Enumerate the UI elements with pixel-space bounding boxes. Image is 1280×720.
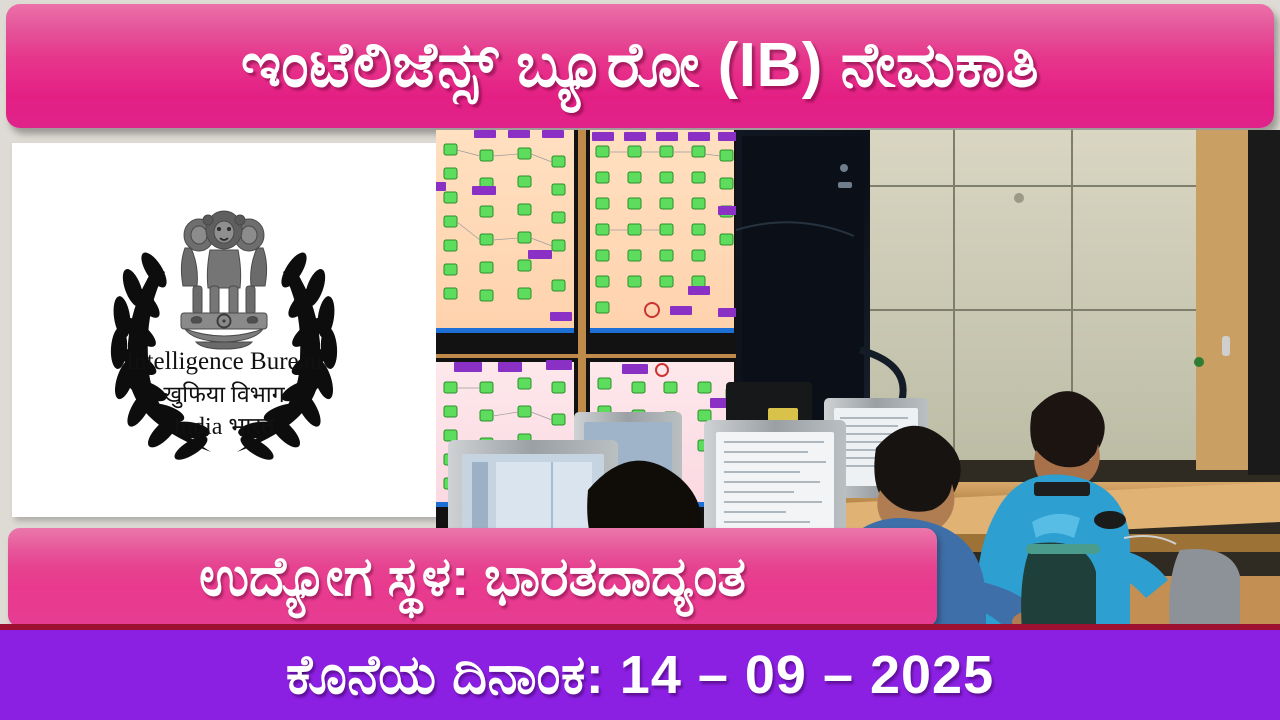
wall-screen-top-right (586, 130, 738, 354)
page-title: ಇಂಟೆಲಿಜೆನ್ಸ್ ಬ್ಯೂರೋ (IB) ನೇಮಕಾತಿ (241, 33, 1039, 98)
last-date-label: ಕೊನೆಯ ದಿನಾಂಕ: (286, 645, 604, 705)
logo-card: Intelligence Bureau खुफिया विभाग India भ… (12, 143, 436, 517)
ib-logo: Intelligence Bureau खुफिया विभाग India भ… (59, 180, 389, 480)
recruitment-poster: ಇಂಟೆಲಿಜೆನ್ಸ್ ಬ್ಯೂರೋ (IB) ನೇಮಕಾತಿ (0, 0, 1280, 720)
last-date-line: ಕೊನೆಯ ದಿನಾಂಕ: 14 – 09 – 2025 (286, 647, 994, 704)
job-location-bar: ಉದ್ಯೋಗ ಸ್ಥಳ: ಭಾರತದಾದ್ಯಂತ (8, 528, 937, 627)
job-location-text: ಉದ್ಯೋಗ ಸ್ಥಳ: ಭಾರತದಾದ್ಯಂತ (199, 549, 746, 606)
logo-country: India भारत (173, 414, 276, 440)
last-date-value: 14 – 09 – 2025 (620, 645, 994, 705)
logo-title-hi: खुफिया विभाग (163, 381, 285, 409)
ib-logo-svg: Intelligence Bureau खुफिया विभाग India भ… (59, 180, 389, 480)
logo-title-en: Intelligence Bureau (126, 348, 323, 375)
ashoka-lion-capital-emblem (181, 211, 267, 349)
header-banner: ಇಂಟೆಲಿಜೆನ್ಸ್ ಬ್ಯೂರೋ (IB) ನೇಮಕಾತಿ (6, 4, 1274, 128)
last-date-bar: ಕೊನೆಯ ದಿನಾಂಕ: 14 – 09 – 2025 (0, 630, 1280, 720)
